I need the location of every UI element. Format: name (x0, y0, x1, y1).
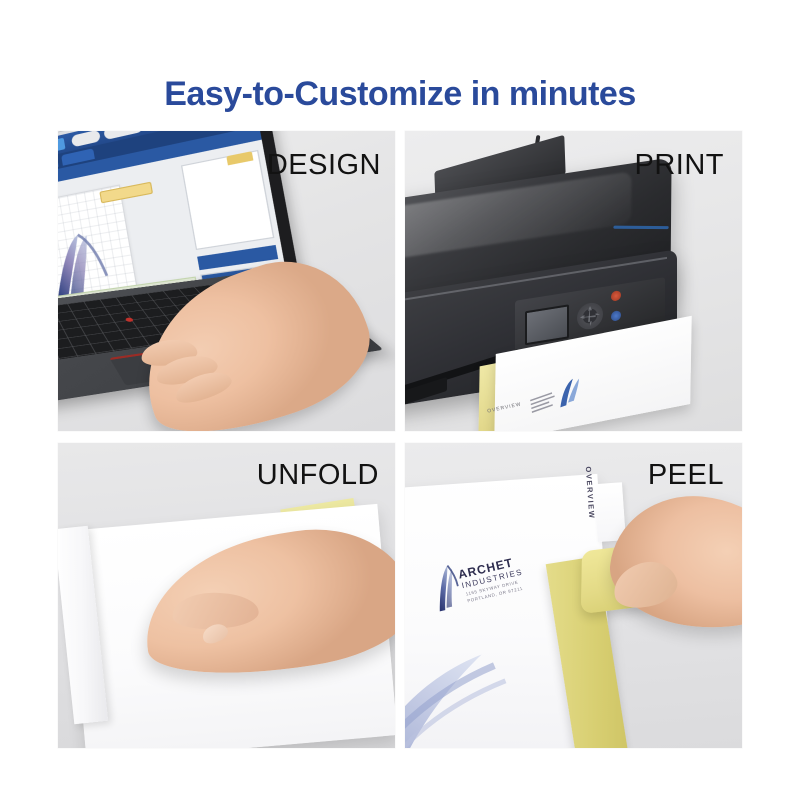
preview-tab-marker (226, 151, 253, 165)
preview-card (181, 150, 274, 250)
tab-label: OVERVIEW (584, 466, 597, 520)
canvas-banner (99, 182, 153, 204)
sheet-swoosh-graphic (405, 645, 572, 748)
step-label-print: PRINT (635, 149, 725, 182)
panel-design: DESIGN (58, 131, 395, 431)
lcd-display (525, 304, 569, 345)
start-button[interactable] (611, 310, 621, 322)
panel-print: OVERVIEW PRINT (405, 131, 742, 431)
page-title: Easy-to-Customize in minutes (0, 75, 800, 114)
step-label-unfold: UNFOLD (257, 459, 379, 492)
panel-unfold: UNFOLD (58, 443, 395, 748)
toolbar-icon-3 (58, 138, 66, 152)
power-button[interactable] (611, 290, 621, 302)
dpad-button[interactable] (577, 301, 603, 331)
step-label-design: DESIGN (267, 149, 381, 182)
printed-logo-icon (527, 371, 593, 421)
panel-peel: OVERVIEW ARC (405, 443, 742, 748)
printer: OVERVIEW (405, 153, 742, 423)
lid-accent-stripe (613, 226, 669, 230)
step-label-peel: PEEL (648, 459, 724, 492)
step-grid: DESIGN (58, 131, 742, 748)
brand-logo: ARCHET INDUSTRIES 1165 SKYWAY DRIVE PORT… (426, 546, 531, 618)
promo-image: Easy-to-Customize in minutes (0, 0, 800, 800)
